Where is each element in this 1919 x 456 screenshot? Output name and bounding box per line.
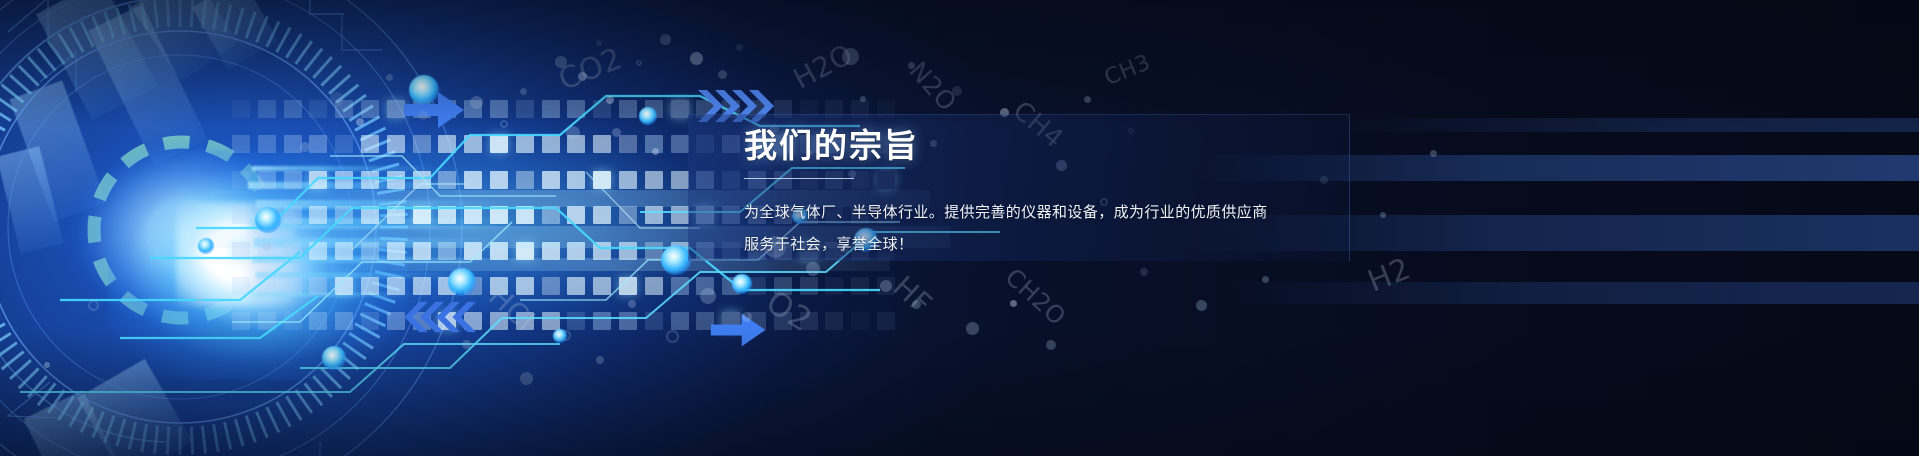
description-line: 服务于社会，享誉全球！ — [744, 228, 1364, 260]
hero-banner: CO2H2ON2OCH3CH4HClO2HFCH2OH2 我们的宗旨 为全球气体… — [0, 0, 1919, 456]
banner-text-block: 我们的宗旨 为全球气体厂、半导体行业。提供完善的仪器和设备，成为行业的优质供应商… — [744, 126, 1364, 260]
description-line: 为全球气体厂、半导体行业。提供完善的仪器和设备，成为行业的优质供应商 — [744, 196, 1364, 228]
page-title: 我们的宗旨 — [744, 126, 1364, 166]
title-underline — [744, 178, 854, 179]
banner-description: 为全球气体厂、半导体行业。提供完善的仪器和设备，成为行业的优质供应商 服务于社会… — [744, 196, 1364, 260]
